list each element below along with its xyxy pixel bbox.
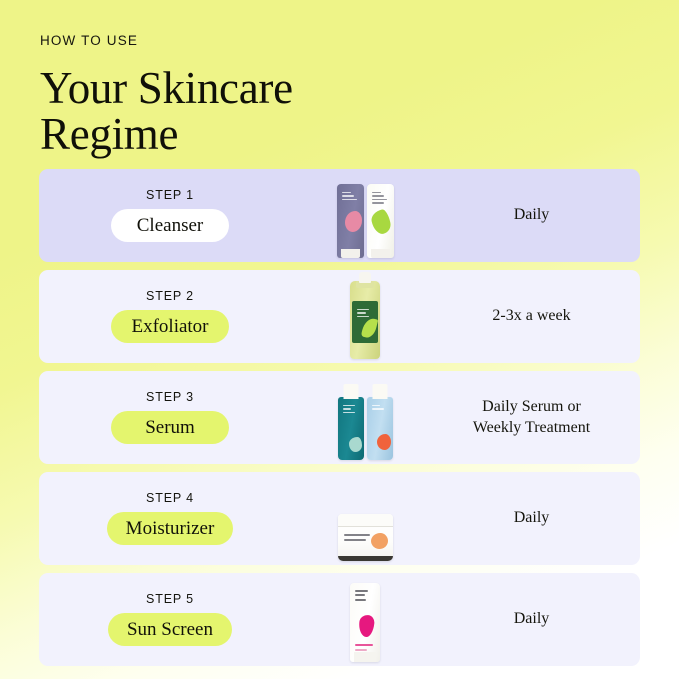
- bottle-cap-icon: [343, 384, 358, 399]
- moisturizer-jar-art: [315, 477, 415, 561]
- label-lines: [355, 590, 368, 604]
- white-cleanser-tube-icon: [367, 184, 394, 258]
- table-row[interactable]: STEP 2 Exfoliator 2-3x a week: [39, 270, 640, 363]
- product-image-cell: [301, 573, 429, 666]
- step-number: STEP 5: [146, 593, 194, 606]
- label-lines: [357, 309, 372, 320]
- step-label-cell: STEP 4 Moisturizer: [39, 492, 301, 545]
- step-name-pill[interactable]: Exfoliator: [111, 310, 229, 343]
- step-label-cell: STEP 3 Serum: [39, 391, 301, 444]
- step-label-cell: STEP 1 Cleanser: [39, 189, 301, 242]
- frequency-text: 2-3x a week: [492, 306, 570, 327]
- table-row[interactable]: STEP 1 Cleanser Daily: [39, 169, 640, 262]
- kale-lalu-yaha-bottle-icon: [350, 281, 380, 359]
- bottle-cap-icon: [372, 384, 387, 399]
- table-row[interactable]: STEP 5 Sun Screen Daily: [39, 573, 640, 666]
- step-number: STEP 2: [146, 290, 194, 303]
- beat-the-sun-tube-icon: [350, 583, 380, 662]
- brand-line: [355, 644, 373, 646]
- product-image-cell: [301, 270, 429, 363]
- frequency-text: Daily: [514, 609, 550, 630]
- step-name-pill[interactable]: Serum: [111, 411, 229, 444]
- table-row[interactable]: STEP 4 Moisturizer Daily: [39, 472, 640, 565]
- frequency-cell: Daily Serum or Weekly Treatment: [429, 397, 640, 439]
- frequency-cell: Daily: [429, 609, 640, 630]
- label-lines: [372, 192, 388, 206]
- step-name-pill[interactable]: Moisturizer: [107, 512, 234, 545]
- step-name-pill[interactable]: Cleanser: [111, 209, 229, 242]
- jar-base: [338, 556, 393, 561]
- page-title: Your Skincare Regime: [40, 65, 370, 159]
- brand-subline: [355, 649, 367, 651]
- eyebrow-label: HOW TO USE: [40, 34, 370, 48]
- label-lines: [343, 405, 358, 416]
- step-name-pill[interactable]: Sun Screen: [108, 613, 232, 646]
- leaf-icon: [361, 316, 378, 339]
- mint-blob-icon: [349, 437, 362, 452]
- jar-lid: [338, 514, 393, 527]
- frequency-cell: Daily: [429, 508, 640, 529]
- step-label-cell: STEP 2 Exfoliator: [39, 290, 301, 343]
- label-lines: [342, 192, 358, 203]
- frequency-text: Daily Serum or Weekly Treatment: [473, 397, 590, 439]
- orange-blob-icon: [371, 533, 388, 549]
- header: HOW TO USE Your Skincare Regime: [40, 34, 370, 158]
- teal-serum-bottle-icon: [338, 397, 364, 460]
- bottle-cap-icon: [359, 272, 371, 283]
- steps-table: STEP 1 Cleanser Daily: [39, 169, 640, 666]
- label-lines: [344, 534, 370, 544]
- step-label-cell: STEP 5 Sun Screen: [39, 593, 301, 646]
- pink-flame-icon: [358, 614, 375, 637]
- pink-blob-icon: [345, 211, 362, 232]
- frequency-cell: Daily: [429, 205, 640, 226]
- bottle-label: [352, 301, 378, 343]
- product-image-cell: [301, 371, 429, 464]
- water-cream-jar-icon: [338, 514, 393, 561]
- label-lines: [372, 405, 387, 412]
- skincare-regime-infographic: HOW TO USE Your Skincare Regime STEP 1 C…: [0, 0, 679, 679]
- blue-serum-bottle-icon: [367, 397, 393, 460]
- green-blob-icon: [369, 208, 392, 235]
- step-number: STEP 1: [146, 189, 194, 202]
- frequency-text: Daily: [514, 508, 550, 529]
- frequency-text: Daily: [514, 205, 550, 226]
- purple-cleanser-tube-icon: [337, 184, 364, 258]
- exfoliator-bottle-art: [315, 275, 415, 359]
- step-number: STEP 3: [146, 391, 194, 404]
- coral-blob-icon: [377, 434, 391, 450]
- sunscreen-tube-art: [315, 578, 415, 662]
- table-row[interactable]: STEP 3 Serum Dai: [39, 371, 640, 464]
- two-serum-bottles-art: [315, 376, 415, 460]
- product-image-cell: [301, 169, 429, 262]
- frequency-cell: 2-3x a week: [429, 306, 640, 327]
- step-number: STEP 4: [146, 492, 194, 505]
- two-cleanser-tubes-art: [315, 174, 415, 258]
- product-image-cell: [301, 472, 429, 565]
